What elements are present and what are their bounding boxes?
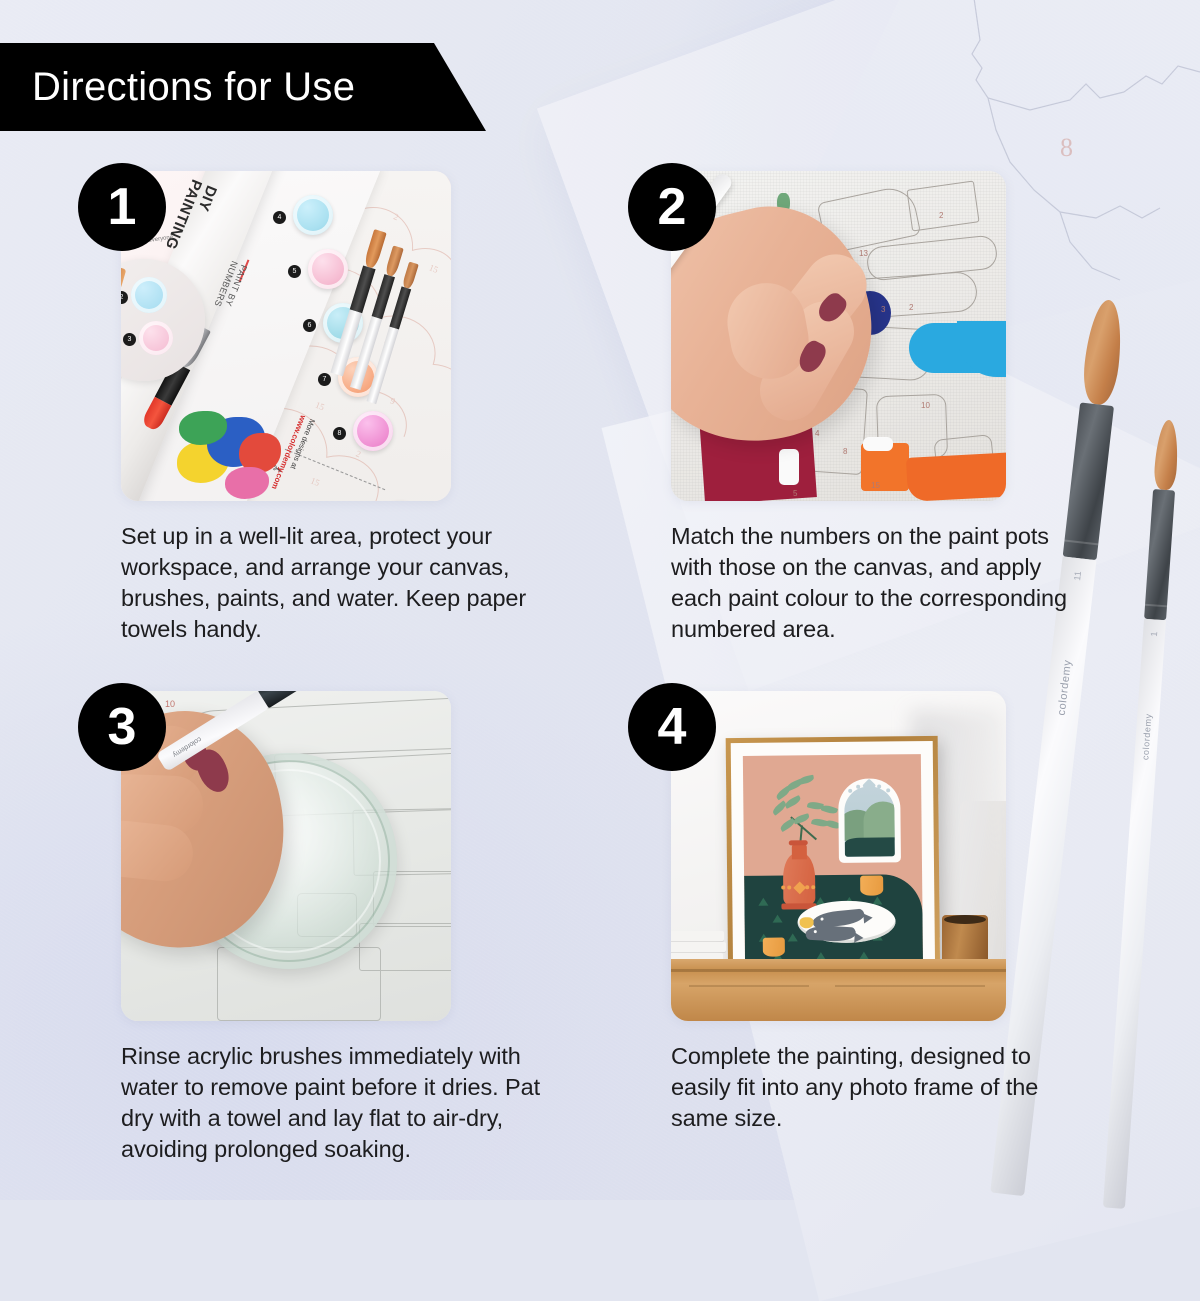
brush-size-label: 1 [1149,631,1159,637]
candle-jar [942,915,988,965]
canvas-number: 4 [815,429,819,438]
canvas-number: 13 [859,249,868,258]
svg-text:15: 15 [309,475,322,488]
plant-leaf [793,813,810,824]
step-1-number-badge: 1 [78,163,166,251]
canvas-fill-orange [906,452,1006,501]
inset-paint-pot [131,277,167,313]
svg-text:2: 2 [355,448,363,459]
canvas-number: 15 [871,481,880,490]
kit-inset-photo: 2 3 [121,259,205,381]
art-vase-lip [789,840,808,845]
step-4-number-badge: 4 [628,683,716,771]
mirror-hill [863,801,895,841]
brush-brand-label: colordemy [1056,659,1074,716]
brush-brand-label: colordemy [1140,713,1153,761]
pot-number-badge: 7 [318,373,331,386]
svg-text:15: 15 [428,262,441,275]
step-2-caption: Match the numbers on the paint pots with… [671,521,1081,645]
art-cup [763,938,785,957]
pot-number-badge: 4 [273,211,286,224]
canvas-number: 10 [921,401,930,410]
canvas-number: 2 [909,303,913,312]
step-2-photo: 2 13 3 2 10 4 8 15 14 5 colordemy [671,171,1006,501]
canvas-fill-white [863,437,893,451]
mirror-water [844,838,894,857]
step-3-photo: 10 colordemy [121,691,451,1021]
canvas-number: 3 [881,305,885,314]
plant-leaf [798,775,815,785]
step-2-number-badge: 2 [628,163,716,251]
art-mirror [838,778,901,863]
step-1-photo: 215 152 915 215 DIY PAINTING PAINT BY NU… [121,171,451,501]
sideboard-table [671,959,1006,1021]
mirror-glass [844,786,895,857]
canvas-number: 10 [165,699,175,709]
paint-pot [308,249,348,289]
art-vase-neck [792,843,807,859]
step-3-number-badge: 3 [78,683,166,771]
step-4-photo [671,691,1006,1021]
plant-leaf [821,804,838,816]
pot-number-badge: 8 [333,427,346,440]
vase-dot-motif [787,885,791,889]
canvas-number: 8 [843,447,847,456]
page-title: Directions for Use [0,67,355,107]
canvas-fill-white [779,449,799,485]
art-cup [860,876,883,896]
header-banner: Directions for Use [0,43,486,131]
art-vase [783,853,816,905]
plant-leaf [784,795,802,809]
svg-text:15: 15 [314,400,327,413]
inset-pot-badge: 3 [123,333,136,346]
paint-pot [293,195,333,235]
step-3-caption: Rinse acrylic brushes immediately with w… [121,1041,571,1165]
picture-frame [726,736,941,996]
paint-pot [353,411,393,451]
canvas-number: 2 [939,211,943,220]
stacked-books [671,927,723,963]
step-4-caption: Complete the painting, designed to easil… [671,1041,1081,1134]
canvas-number: 5 [793,489,797,498]
vase-dot-motif [811,885,815,889]
candle-wax [944,915,986,924]
pot-number-badge: 5 [288,265,301,278]
inset-paint-pot [139,321,173,355]
step-1-caption: Set up in a well-lit area, protect your … [121,521,571,645]
pot-number-badge: 6 [303,319,316,332]
artwork [743,754,923,970]
